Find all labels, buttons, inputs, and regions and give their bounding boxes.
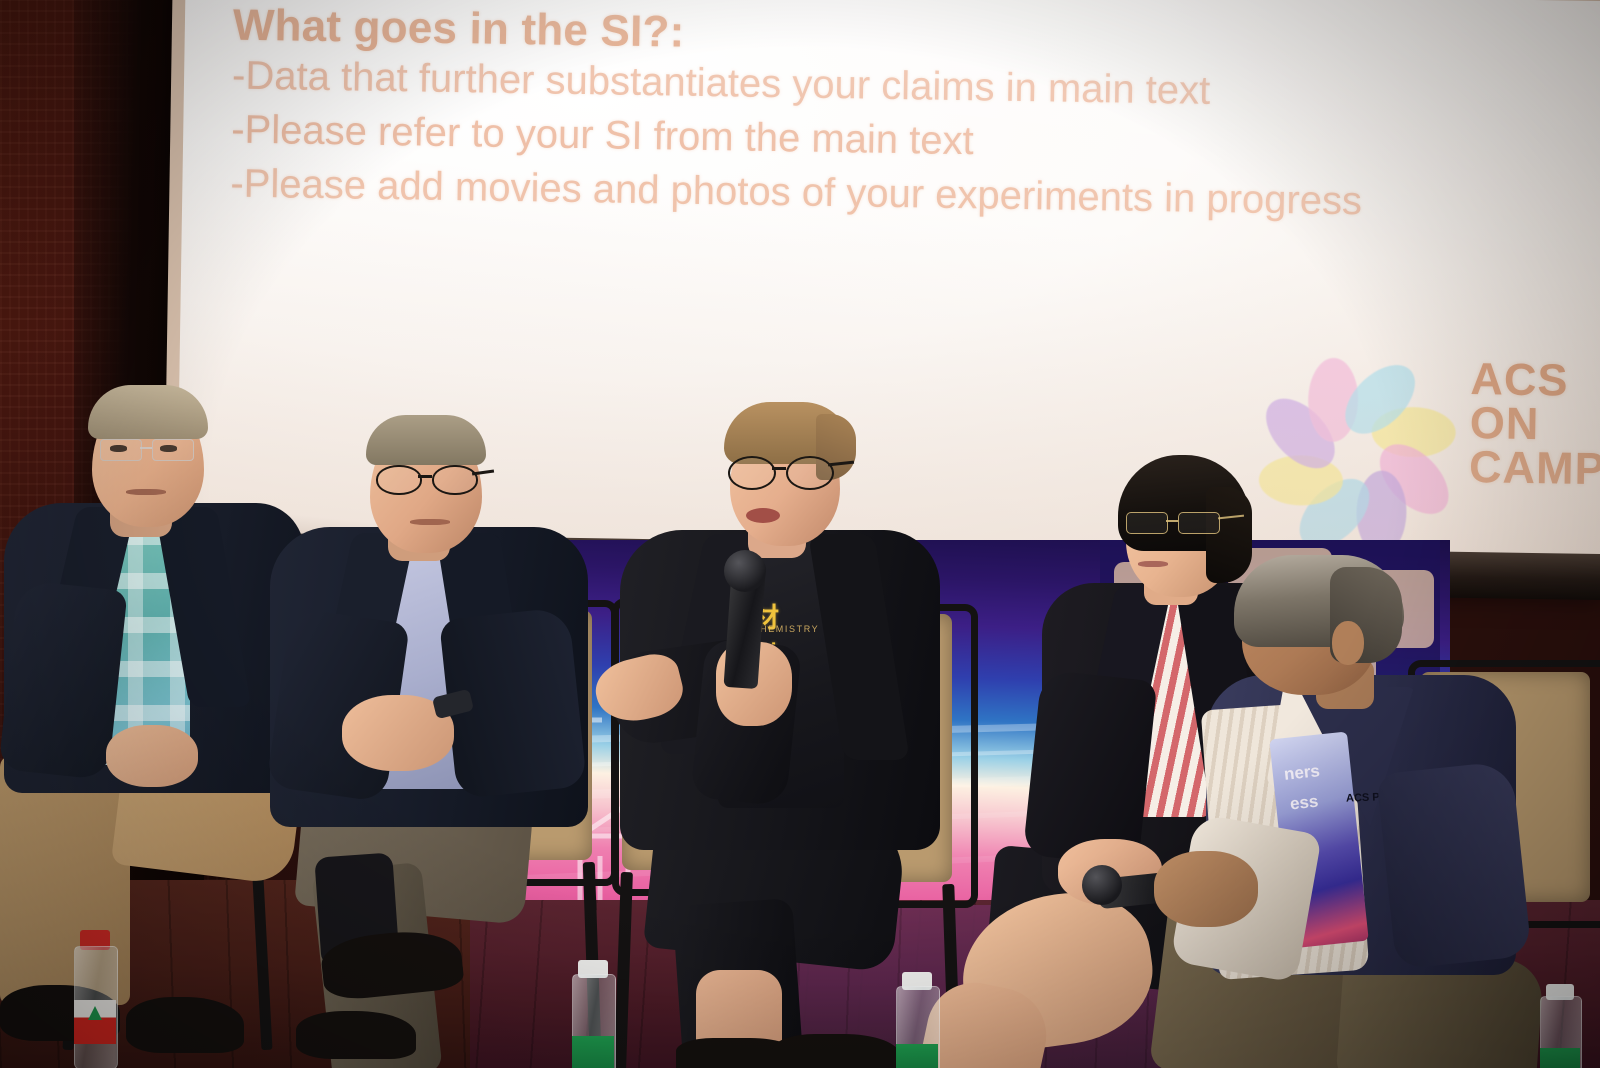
slide-bullet-1: -Data that further substantiates your cl…: [232, 50, 1600, 126]
acs-petal-icon: [1259, 455, 1344, 506]
panelist-1-mouth: [126, 489, 166, 495]
panelist-3-tshirt-logo-sub: CHEMISTRY: [752, 624, 819, 634]
acs-logo-line-1: ACS: [1470, 357, 1600, 404]
panelist-3-shoe: [772, 1034, 900, 1068]
slide-title: What goes in the SI?:: [233, 2, 1600, 72]
slide-bullet-3: -Please add movies and photos of your ex…: [230, 157, 1600, 233]
panelist-4-glasses: [1122, 509, 1232, 537]
acs-logo-text: ACS ON CAMPU: [1469, 357, 1600, 492]
panelist-3-mouth: [746, 508, 780, 523]
panelist-2-shoe: [296, 1011, 416, 1059]
panelist-1-hand: [106, 725, 198, 787]
acs-petal-icon: [1371, 407, 1456, 458]
acs-logo-line-2: ON: [1469, 401, 1600, 448]
acs-on-campus-logo: ACS ON CAMPU: [1272, 346, 1600, 533]
panelist-4-arm: [1023, 669, 1158, 866]
microphone-head: [724, 550, 766, 592]
acs-petal-icon: [1367, 432, 1461, 527]
panelist-2-mouth: [410, 519, 450, 525]
lanyard-fragment-2: ess: [1289, 792, 1319, 815]
microphone-held-head: [1082, 865, 1122, 905]
acs-petal-mark-icon: [1272, 346, 1443, 517]
photo-scene: What goes in the SI?: -Data that further…: [0, 0, 1600, 1068]
bottle-label: [1540, 1048, 1580, 1068]
slide-bullet-2: -Please refer to your SI from the main t…: [231, 104, 1600, 180]
acs-petal-icon: [1253, 386, 1347, 481]
panelist-5-arm: [1376, 760, 1532, 969]
lanyard-fragment-1: ners: [1283, 761, 1321, 785]
panelist-2-hair: [366, 415, 486, 465]
panelist-1-hair: [88, 385, 208, 439]
bottle-label: [572, 1036, 614, 1068]
panelist-1-shoe: [126, 997, 244, 1053]
panelist-3-glasses: [728, 454, 840, 488]
bottle-label: [896, 1044, 938, 1068]
panelist-5-ear: [1332, 621, 1364, 665]
acs-logo-line-3: CAMPU: [1469, 445, 1600, 492]
panelist-4-mouth: [1138, 561, 1168, 567]
panelist-5-hand: [1154, 851, 1258, 927]
acs-petal-icon: [1308, 358, 1359, 443]
bottle-label-leaf-icon: [88, 1006, 102, 1020]
panelist-2-glasses: [374, 463, 488, 495]
panelist-1-glasses: [98, 435, 206, 463]
presentation-slide: What goes in the SI?: -Data that further…: [230, 2, 1600, 233]
acs-petal-icon: [1333, 352, 1428, 446]
